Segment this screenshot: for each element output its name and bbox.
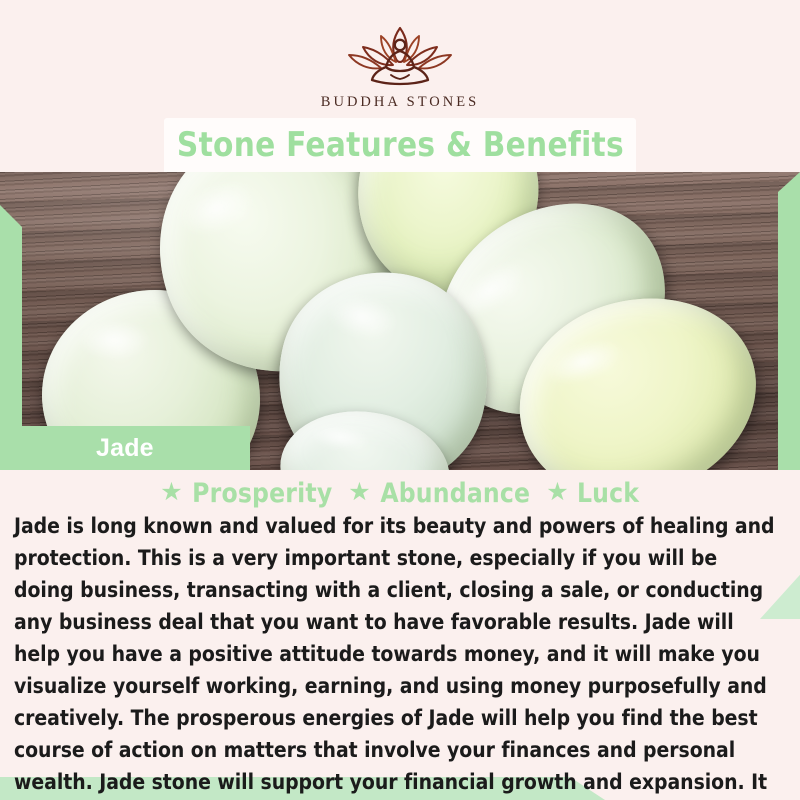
- content-area: ★ Prosperity ★ Abundance ★ Luck Jade is …: [0, 470, 800, 800]
- benefit-item-prosperity: ★ Prosperity: [160, 478, 334, 509]
- accent-bar-right: [778, 172, 800, 470]
- benefit-item-luck: ★ Luck: [546, 478, 640, 509]
- benefit-label: Luck: [577, 478, 639, 509]
- brand-name: BUDDHA STONES: [321, 94, 479, 111]
- star-icon: ★: [546, 480, 568, 505]
- benefit-label: Abundance: [380, 478, 530, 509]
- page-title: Stone Features & Benefits: [176, 128, 623, 162]
- star-icon: ★: [160, 480, 182, 505]
- stone-description: Jade is long known and valued for its be…: [14, 511, 777, 800]
- brand-logo-block: BUDDHA STONES: [0, 0, 800, 118]
- star-icon: ★: [348, 480, 370, 505]
- benefit-item-abundance: ★ Abundance: [348, 478, 532, 509]
- stone-name-tag: Jade: [0, 426, 250, 470]
- benefit-label: Prosperity: [192, 478, 332, 509]
- stone-name-label: Jade: [96, 434, 154, 463]
- benefits-list: ★ Prosperity ★ Abundance ★ Luck: [0, 478, 800, 509]
- lotus-meditation-icon: [341, 22, 459, 88]
- stone-info-poster: BUDDHA STONES Stone Features & Benefits …: [0, 0, 800, 800]
- title-banner: Stone Features & Benefits: [164, 118, 636, 172]
